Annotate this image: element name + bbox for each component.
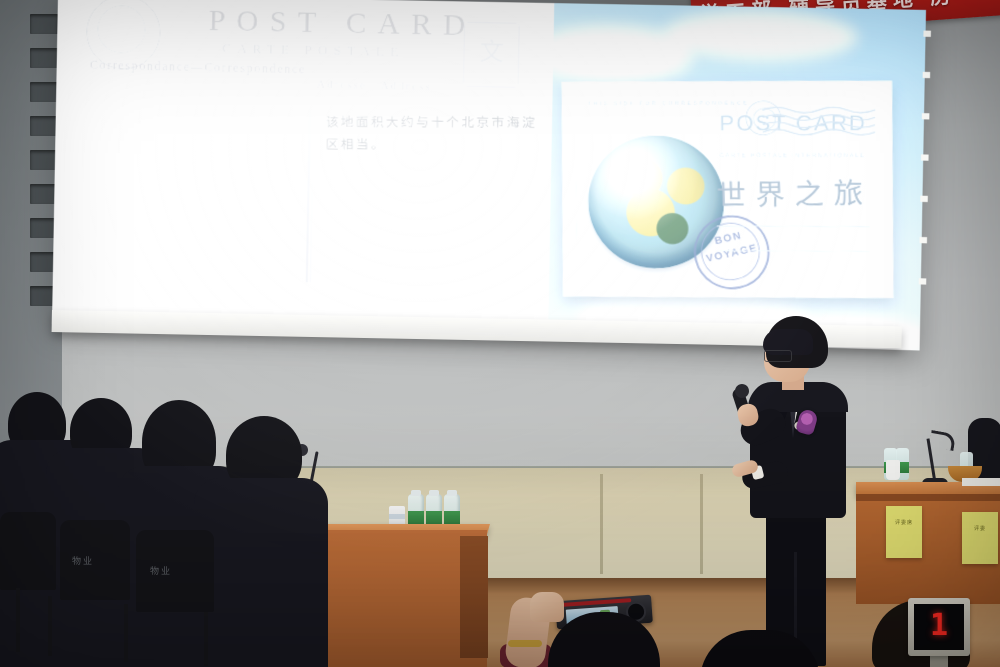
judge-name-card-text: 评委席: [886, 506, 922, 528]
postcard-small-subtitle: CARTE POSTALE INTERNATIONALE: [720, 152, 866, 158]
auditorium-scene: 学工部 辅导员基地 历 POST CARD CARTE POSTALE Corr…: [0, 0, 1000, 667]
postcard-subtitle: CARTE POSTALE: [222, 40, 405, 60]
cancellation-waves-icon: [762, 104, 875, 141]
postcard-left-rule: [575, 150, 577, 240]
slide-left-postcard: POST CARD CARTE POSTALE Correspondance—C…: [52, 0, 555, 339]
slide-right-world-journey: THIS SIDE FOR CORRESPONDENCE POST CARD C…: [548, 3, 926, 350]
postcard-top-rule-text: THIS SIDE FOR CORRESPONDENCE: [588, 100, 750, 106]
front-table-side: [460, 536, 488, 658]
paper-cup: [886, 460, 900, 480]
judge-name-card: 评委席: [886, 506, 922, 558]
stamp-caption-bottom: PAID: [464, 76, 518, 83]
timer-value: 1: [914, 608, 964, 643]
judge-name-card: 评委: [962, 512, 998, 564]
judges-table-edge: [856, 494, 1000, 501]
postcard-title: POST CARD: [208, 3, 477, 43]
correspondence-label: Correspondance—Correspondence: [90, 57, 307, 77]
handwritten-note: 该地面积大约与十个北京市海淀区相当。: [325, 111, 537, 156]
postcard-write-line: [717, 226, 870, 227]
screen-surface: POST CARD CARTE POSTALE Correspondance—C…: [52, 0, 926, 351]
chair-label: 物业: [72, 554, 94, 567]
stamp-caption-top: POSTAGE: [465, 26, 519, 33]
foreground-hand: [530, 592, 564, 622]
postcard-small: THIS SIDE FOR CORRESPONDENCE POST CARD C…: [562, 80, 894, 298]
folding-chair: 物业: [60, 520, 130, 600]
folding-chair: 物业: [136, 530, 214, 612]
slide-headline-chinese: 世界之旅: [716, 170, 873, 214]
presenter-figure: [736, 316, 854, 667]
stamp-glyph-icon: ⽂: [477, 35, 507, 70]
paper-cup-band: [389, 514, 405, 519]
address-label: Adresse—Address: [317, 79, 432, 94]
chair-label: 物业: [150, 564, 172, 577]
bracelet: [508, 640, 542, 647]
stamp-placeholder-icon: POSTAGE ⽂ PAID: [463, 22, 520, 88]
postcard-large: POST CARD CARTE POSTALE Correspondance—C…: [62, 0, 545, 332]
judge-name-card-text: 评委: [962, 512, 998, 534]
postcard-divider-secondary: [310, 109, 314, 282]
projection-screen: POST CARD CARTE POSTALE Correspondance—C…: [52, 0, 926, 351]
postcard-write-line: [717, 250, 870, 252]
timer-screen: 1: [914, 604, 964, 650]
countdown-timer-display: 1: [908, 598, 970, 656]
glasses-icon: [764, 350, 792, 362]
folding-chair: [0, 512, 56, 590]
camera-accent-stripe: [561, 598, 631, 607]
judging-papers: [962, 478, 1000, 486]
